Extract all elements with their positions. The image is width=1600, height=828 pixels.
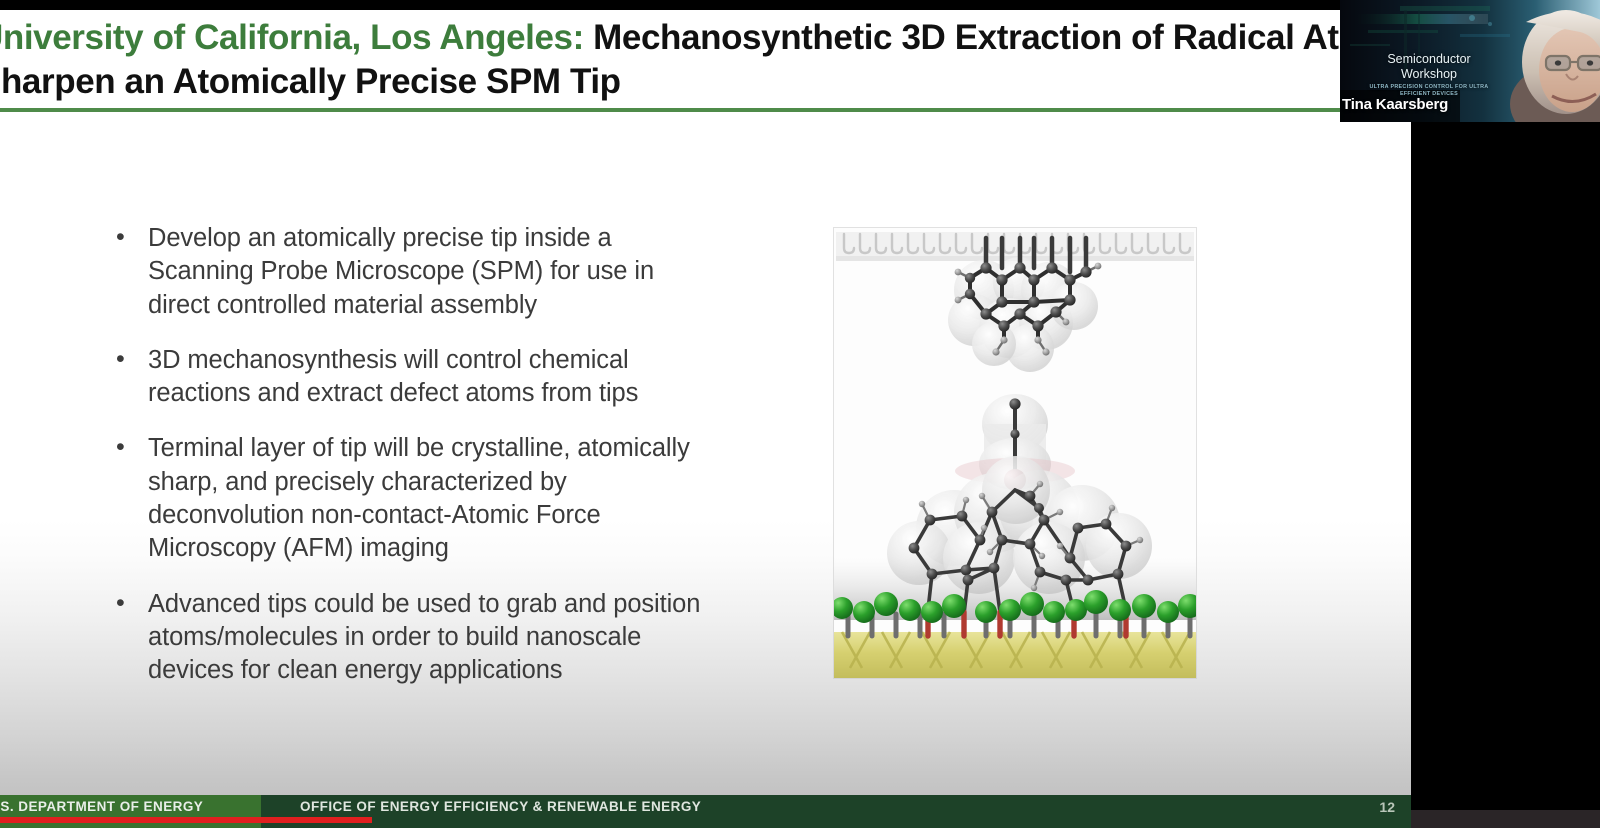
bullet-marker: • [116,431,125,464]
spm-tip-molecular-figure [834,228,1196,678]
video-speaker-name: Tina Kaarsberg [1342,96,1448,113]
slide-footer: U.S. DEPARTMENT OF ENERGY OFFICE OF ENER… [0,795,1411,828]
bullet-list: • Develop an atomically precise tip insi… [110,222,720,710]
bottom-right-strip [1411,810,1600,828]
meeting-screen: University of California, Los Angeles: M… [0,0,1600,828]
list-item: • Develop an atomically precise tip insi… [110,222,720,322]
right-black-gutter [1411,122,1600,828]
list-item-text: Advanced tips could be used to grab and … [148,590,700,685]
bullet-marker: • [116,343,125,376]
molecular-model-illustration [834,228,1196,678]
slide-top-black-bar [0,0,1411,10]
bullet-marker: • [116,221,125,254]
presentation-slide: University of California, Los Angeles: M… [0,0,1411,828]
footer-department-label: U.S. DEPARTMENT OF ENERGY [0,799,286,817]
video-workshop-title: SemiconductorWorkshop [1354,52,1504,82]
bullet-marker: • [116,587,125,620]
tip-support-comb [836,232,1194,261]
title-organization: University of California, Los Angeles: [0,18,593,57]
list-item: • 3D mechanosynthesis will control chemi… [110,344,720,411]
slide-page-number: 12 [1355,799,1395,815]
list-item: • Advanced tips could be used to grab an… [110,588,720,688]
title-divider [0,108,1411,112]
list-item-text: 3D mechanosynthesis will control chemica… [148,346,638,407]
list-item: • Terminal layer of tip will be crystall… [110,432,720,565]
footer-accent-rule [0,817,372,823]
list-item-text: Terminal layer of tip will be crystallin… [148,434,690,562]
list-item-text: Develop an atomically precise tip inside… [148,224,654,319]
participant-video-tile[interactable]: SemiconductorWorkshop ULTRA PRECISION CO… [1340,0,1600,122]
page-title: University of California, Los Angeles: M… [0,16,1411,104]
slide-title-block: University of California, Los Angeles: M… [0,16,1411,110]
footer-office-label: OFFICE OF ENERGY EFFICIENCY & RENEWABLE … [300,799,701,814]
